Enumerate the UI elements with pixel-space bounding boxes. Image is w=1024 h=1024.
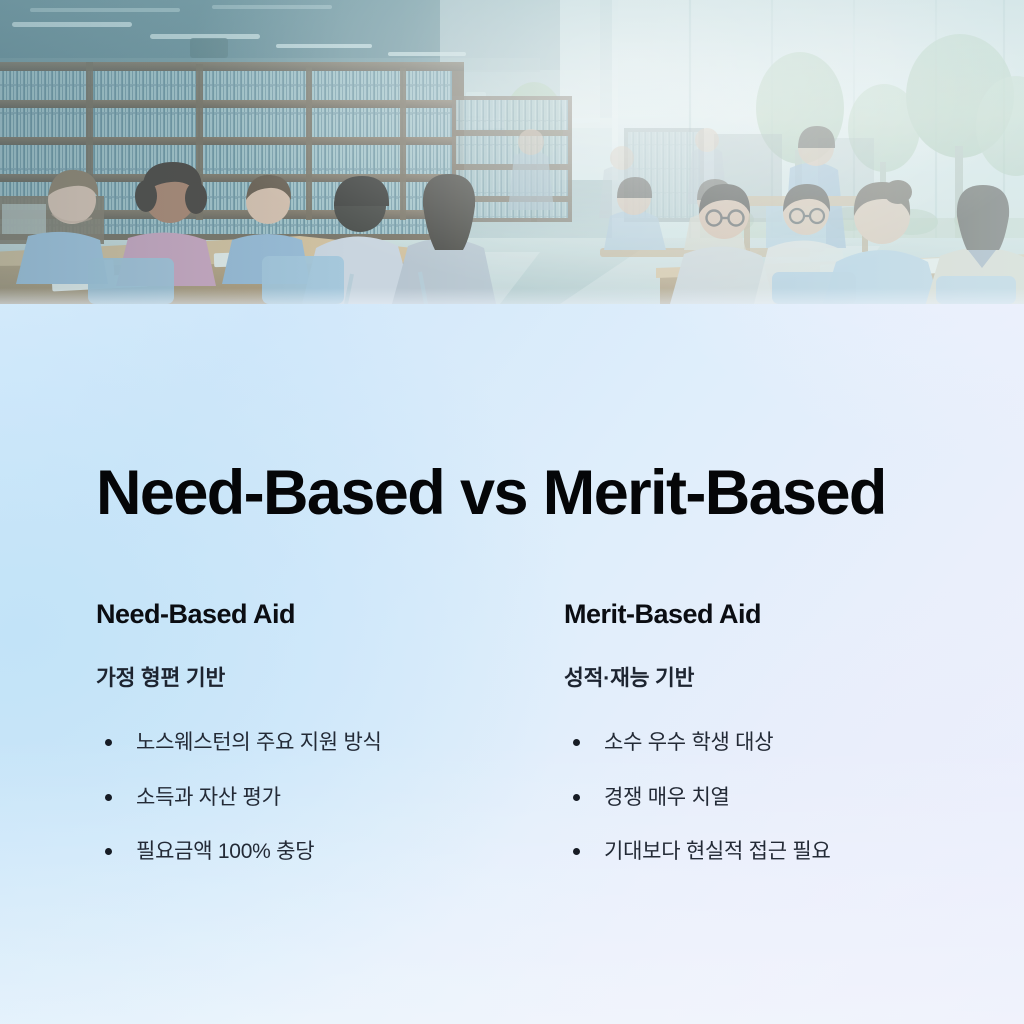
page-title: Need-Based vs Merit-Based: [96, 461, 886, 527]
list-item: 소수 우수 학생 대상: [564, 729, 984, 757]
column-title-merit-based: Merit-Based Aid: [564, 598, 984, 630]
list-item: 경쟁 매우 치열: [564, 784, 984, 812]
list-item: 소득과 자산 평가: [96, 784, 516, 812]
bullet-dot-icon: [105, 794, 112, 801]
list-item: 기대보다 현실적 접근 필요: [564, 838, 984, 866]
bullet-dot-icon: [573, 848, 580, 855]
bullet-text: 소득과 자산 평가: [136, 786, 281, 809]
bullet-dot-icon: [573, 739, 580, 746]
slide-root: Need-Based vs Merit-Based Need-Based Aid…: [0, 0, 1024, 1024]
comparison-columns: Need-Based Aid 가정 형편 기반 노스웨스턴의 주요 지원 방식 …: [96, 598, 984, 866]
bullet-dot-icon: [105, 739, 112, 746]
bullet-dot-icon: [573, 794, 580, 801]
bullet-text: 경쟁 매우 치열: [604, 786, 730, 809]
bullet-dot-icon: [105, 848, 112, 855]
library-scene-illustration: [0, 0, 1024, 304]
bullet-list-need-based: 노스웨스턴의 주요 지원 방식 소득과 자산 평가 필요금액 100% 충당: [96, 729, 516, 866]
bullet-text: 노스웨스턴의 주요 지원 방식: [136, 731, 382, 754]
list-item: 필요금액 100% 충당: [96, 838, 516, 866]
bullet-list-merit-based: 소수 우수 학생 대상 경쟁 매우 치열 기대보다 현실적 접근 필요: [564, 729, 984, 866]
column-title-need-based: Need-Based Aid: [96, 598, 516, 630]
list-item: 노스웨스턴의 주요 지원 방식: [96, 729, 516, 757]
column-subtitle-need-based: 가정 형편 기반: [96, 665, 516, 692]
bullet-text: 필요금액 100% 충당: [136, 840, 314, 863]
column-merit-based: Merit-Based Aid 성적·재능 기반 소수 우수 학생 대상 경쟁 …: [564, 598, 984, 866]
bullet-text: 기대보다 현실적 접근 필요: [604, 840, 831, 863]
hero-image: [0, 0, 1024, 304]
column-need-based: Need-Based Aid 가정 형편 기반 노스웨스턴의 주요 지원 방식 …: [96, 598, 516, 866]
bullet-text: 소수 우수 학생 대상: [604, 731, 773, 754]
column-subtitle-merit-based: 성적·재능 기반: [564, 665, 984, 692]
content-area: Need-Based vs Merit-Based Need-Based Aid…: [0, 304, 1024, 1024]
